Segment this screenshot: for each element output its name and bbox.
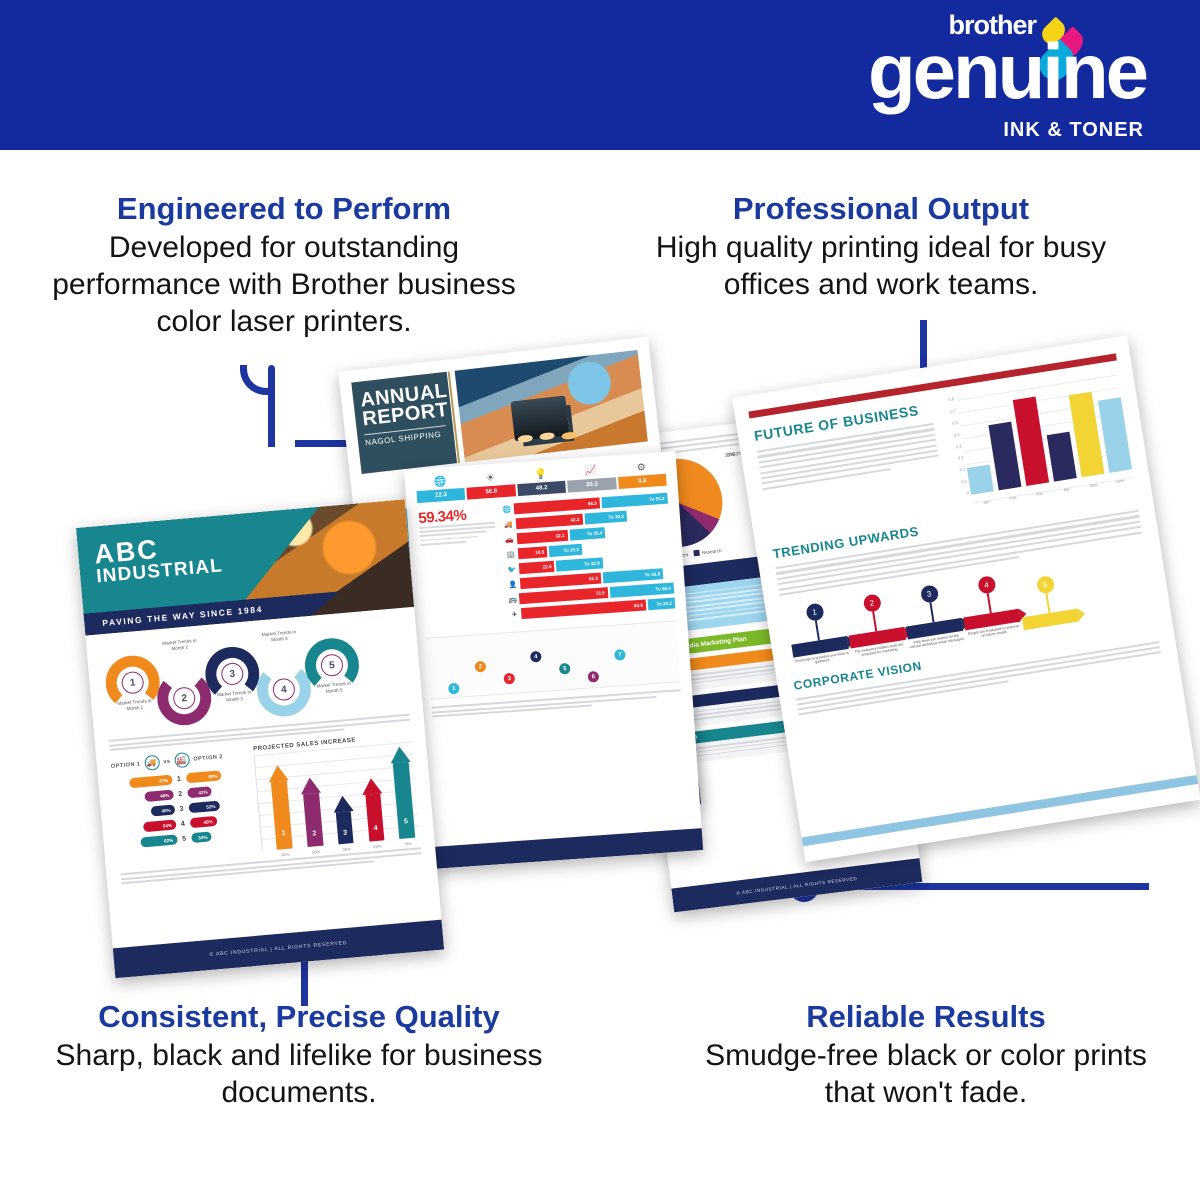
option2-bar: 34% — [191, 832, 212, 844]
arrow-head — [361, 777, 382, 795]
row-number: 1 — [175, 775, 184, 783]
badge-subtitle: NAGOL SHIPPING — [365, 429, 447, 447]
cyan-bar: To 25.4 — [569, 527, 606, 540]
truck-highway-photo — [455, 350, 648, 462]
timeline-marker: 5 — [1016, 572, 1079, 632]
row-number: 2 — [176, 790, 185, 798]
y-tick: 0.2 — [953, 467, 966, 474]
abc-charts-row: OPTION 1 🚚 vs 🏭 OPTION 2 72%160%48%241%4… — [96, 732, 434, 865]
pie-slice-label: 23% — [725, 451, 736, 458]
projected-sales-chart: PROJECTED SALES INCREASE 140%255%338%462… — [253, 733, 420, 851]
timeline-pin[interactable]: 3 — [919, 584, 938, 603]
red-bar: 58.3 — [514, 497, 600, 514]
cyan-bar: To 42.8 — [603, 568, 664, 583]
red-bar: 18.5 — [518, 546, 548, 559]
kpi-value: 48.2 — [517, 481, 566, 496]
callout-professional-output: Professional Output High quality printin… — [626, 192, 1136, 304]
callout-body: High quality printing ideal for busy off… — [626, 230, 1136, 303]
legend-item: Research — [694, 547, 722, 556]
kpi-item: 🌐22.3 — [416, 475, 466, 503]
y-tick: 0.5 — [947, 431, 960, 438]
red-bar: 32.1 — [517, 530, 568, 545]
red-bar: 51.3 — [520, 573, 601, 590]
brother-genuine-logo: brother genuine INK & TONER — [848, 8, 1148, 144]
arrow-shaft — [336, 811, 354, 844]
option2-bar: 52% — [188, 801, 220, 814]
row-number: 5 — [180, 835, 189, 843]
arrow-label: 4 — [373, 825, 378, 832]
line-chart-point: 6 — [588, 671, 600, 683]
option2-track: 34% — [191, 828, 251, 843]
cyan-bar: To 32.8 — [556, 557, 603, 571]
document-infographic: 🌐22.3☀56.8💡48.2📈30.3⚙3.6 59.34% 🌐58.3To … — [404, 451, 703, 869]
option1-bar: 62% — [140, 835, 178, 848]
timeline-step-label: Market Trends in Month 2 — [155, 637, 204, 653]
timeline-stem — [986, 593, 991, 613]
category-icon: ✈ — [509, 610, 520, 619]
y-tick: 0.6 — [945, 420, 958, 427]
option2-bar: 60% — [185, 770, 222, 783]
option2-bar: 41% — [187, 786, 212, 798]
category-icon: 🚚 — [503, 520, 515, 529]
y-tick: 0.3 — [951, 455, 964, 462]
infographic-footer-bar — [430, 828, 703, 869]
callout-reliable-results: Reliable Results Smudge-free black or co… — [676, 1000, 1176, 1112]
document-abc-industrial: ABC INDUSTRIAL PAVING THE WAY SINCE 1984… — [76, 499, 444, 978]
line-chart-point: 2 — [475, 661, 487, 673]
callout-title: Reliable Results — [676, 1000, 1176, 1033]
option2-label: OPTION 2 — [193, 754, 223, 763]
callout-title: Professional Output — [626, 192, 1136, 225]
sales-arrow: 338% — [329, 795, 359, 845]
option1-bar: 48% — [144, 790, 173, 802]
option1-bar: 40% — [150, 805, 175, 817]
timeline-stem — [929, 602, 934, 622]
callout-body: Smudge-free black or color prints that w… — [676, 1038, 1176, 1111]
option2-track: 45% — [189, 813, 249, 828]
category-icon: 👤 — [507, 580, 519, 589]
abc-footer-bar: © ABC INDUSTRIAL | ALL RIGHTS RESERVED — [113, 920, 444, 979]
option2-track: 60% — [185, 768, 245, 783]
bar — [1098, 398, 1132, 473]
line-chart-point: 1 — [448, 683, 460, 695]
arrow-shaft — [365, 793, 385, 842]
option1-label: OPTION 1 — [111, 761, 141, 770]
option1-track: 48% — [113, 790, 173, 805]
option1-track: 62% — [117, 835, 177, 850]
ink-and-toner-label: INK & TONER — [1003, 120, 1144, 140]
arrow-label: 5 — [404, 818, 409, 825]
option2-track: 52% — [188, 798, 248, 813]
category-icon: 🚗 — [504, 535, 516, 544]
factory-icon: 🏭 — [174, 752, 190, 768]
callout-body: Sharp, black and lifelike for business d… — [34, 1038, 564, 1111]
arrow-shaft — [303, 793, 323, 847]
infographic-content: 🌐22.3☀56.8💡48.2📈30.3⚙3.6 59.34% 🌐58.3To … — [404, 451, 694, 730]
timeline-pin[interactable]: 5 — [1035, 575, 1054, 594]
versus-label: vs — [163, 758, 171, 765]
red-bar: 42.2 — [516, 514, 583, 530]
arrow-shaft — [393, 762, 415, 839]
cyan-bar: To 20.2 — [648, 597, 676, 610]
infographic-stat-block: 59.34% 🌐58.3To 50.2🚚42.2To 30.2🚗32.1To 2… — [418, 493, 676, 630]
row-number: 4 — [179, 820, 188, 828]
kpi-icon: 🌐 — [416, 475, 465, 489]
cyan-bar: To 30.2 — [584, 511, 627, 525]
option1-bar: 54% — [143, 820, 176, 833]
category-icon: 🚌 — [508, 595, 517, 604]
arrow-head — [268, 764, 289, 782]
callout-title: Engineered to Perform — [34, 192, 534, 225]
category-icon: 🌐 — [502, 505, 513, 514]
brand-header: brother genuine INK & TONER — [0, 0, 1200, 150]
option-rows: 72%160%48%241%40%352%54%445%62%534% — [112, 768, 251, 849]
kpi-item: 💡48.2 — [516, 468, 566, 496]
option1-track: 54% — [116, 820, 176, 835]
kpi-icon: 💡 — [516, 468, 565, 482]
arrow-label: 3 — [343, 830, 348, 837]
callout-body: Developed for outstanding performance wi… — [34, 230, 534, 340]
connector-line — [268, 365, 275, 447]
kpi-value: 56.8 — [467, 484, 516, 499]
option1-track: 72% — [112, 775, 172, 790]
kpi-icon: ⚙ — [617, 461, 666, 475]
timeline-pin[interactable]: 4 — [977, 575, 996, 594]
infographic-line-chart: 1234567 — [427, 620, 681, 699]
stat-left: 59.34% — [418, 505, 502, 630]
row-number: 3 — [177, 805, 186, 813]
bar — [989, 421, 1022, 490]
timeline-step-label: Market Trends in Month 4 — [255, 629, 304, 645]
genuine-wordmark: genuine — [868, 32, 1146, 110]
dm-footer-bar: © ABC INDUSTRIAL | ALL RIGHTS RESERVED — [671, 858, 922, 912]
line-chart-point: 7 — [614, 649, 626, 661]
bar — [967, 465, 994, 495]
kpi-icon: ☀ — [466, 471, 515, 485]
red-bar: 22.5 — [519, 561, 555, 574]
kpi-value: 30.3 — [567, 477, 616, 492]
timeline-marker: 3Web flows are treated for the various a… — [900, 581, 965, 650]
sales-arrow: 462% — [358, 777, 389, 842]
kpi-value: 3.6 — [618, 474, 667, 489]
kpi-value: 22.3 — [417, 488, 466, 503]
timeline-pin[interactable]: 1 — [805, 602, 824, 621]
option2-bar: 45% — [189, 816, 217, 828]
callout-consistent-precise-quality: Consistent, Precise Quality Sharp, black… — [34, 1000, 564, 1112]
cyan-bar: To 58.4 — [609, 582, 674, 597]
arrow-percent: 40% — [281, 852, 289, 858]
option1-track: 40% — [115, 805, 175, 820]
timeline-stem — [872, 611, 877, 631]
cyan-bar: To 50.2 — [601, 493, 668, 509]
kpi-item: ☀56.8 — [466, 471, 516, 499]
y-tick: 0.1 — [955, 478, 968, 485]
poster-stage: brother genuine INK & TONER Engineered t… — [0, 0, 1200, 1200]
arrow-head — [300, 777, 321, 795]
y-tick: 0 — [957, 490, 970, 497]
line-chart-point: 4 — [530, 651, 542, 663]
cyan-bar: To 23.3 — [549, 544, 583, 557]
option1-bar: 72% — [129, 775, 173, 789]
truck-icon: 🚚 — [144, 755, 160, 771]
infographic-paired-bar-chart: 🌐58.3To 50.2🚚42.2To 30.2🚗32.1To 25.4🏢18.… — [502, 493, 676, 624]
bar — [1047, 432, 1077, 482]
line-chart-point: 5 — [559, 663, 571, 675]
connector-elbow — [240, 365, 270, 395]
callout-engineered-to-perform: Engineered to Perform Developed for outs… — [34, 192, 534, 340]
arrow-percent: 55% — [312, 849, 320, 855]
line-chart-point: 3 — [503, 673, 515, 685]
timeline-marker: 4People are evaluated to improve on futu… — [957, 572, 1022, 641]
arrow-shaft — [271, 780, 292, 850]
kpi-icon: 📈 — [566, 464, 615, 478]
timeline-stem — [1045, 593, 1050, 613]
arrow-head — [389, 746, 410, 764]
annual-report-badge: ANNUAL REPORT NAGOL SHIPPING — [351, 372, 457, 474]
arrow-percent: 38% — [342, 846, 350, 852]
timeline-pin[interactable]: 2 — [862, 593, 881, 612]
y-tick: 0.7 — [944, 408, 957, 415]
arrow-label: 1 — [281, 830, 286, 837]
bar-series — [956, 374, 1132, 494]
text-line — [420, 541, 466, 546]
timeline-marker: 1Email logs is provided and there is gat… — [785, 599, 850, 668]
document-future-of-business: FUTURE OF BUSINESS 0.80.70.60.50.40.30.2… — [732, 335, 1200, 862]
option2-track: 41% — [187, 783, 247, 798]
red-bar: 72.5 — [519, 587, 609, 604]
fob-footer-bar — [802, 775, 1198, 846]
y-tick: 0.4 — [949, 443, 962, 450]
sales-arrow-bars: 140%255%338%462%576% — [254, 742, 420, 851]
arrow-label: 2 — [312, 830, 317, 837]
option-comparison-chart: OPTION 1 🚚 vs 🏭 OPTION 2 72%160%48%241%4… — [110, 747, 252, 863]
timeline-stem — [815, 620, 820, 640]
kpi-item: 📈30.3 — [566, 464, 616, 492]
y-tick: 0.8 — [942, 396, 955, 403]
arrow-percent: 76% — [404, 841, 412, 847]
arrow-percent: 62% — [373, 844, 381, 850]
kpi-item: ⚙3.6 — [617, 461, 667, 489]
category-icon: 🏢 — [505, 550, 517, 559]
category-icon: 🐦 — [506, 565, 518, 574]
arrow-head — [332, 795, 353, 813]
timeline-marker: 2The evaluation bullets tools are prepar… — [843, 590, 908, 659]
